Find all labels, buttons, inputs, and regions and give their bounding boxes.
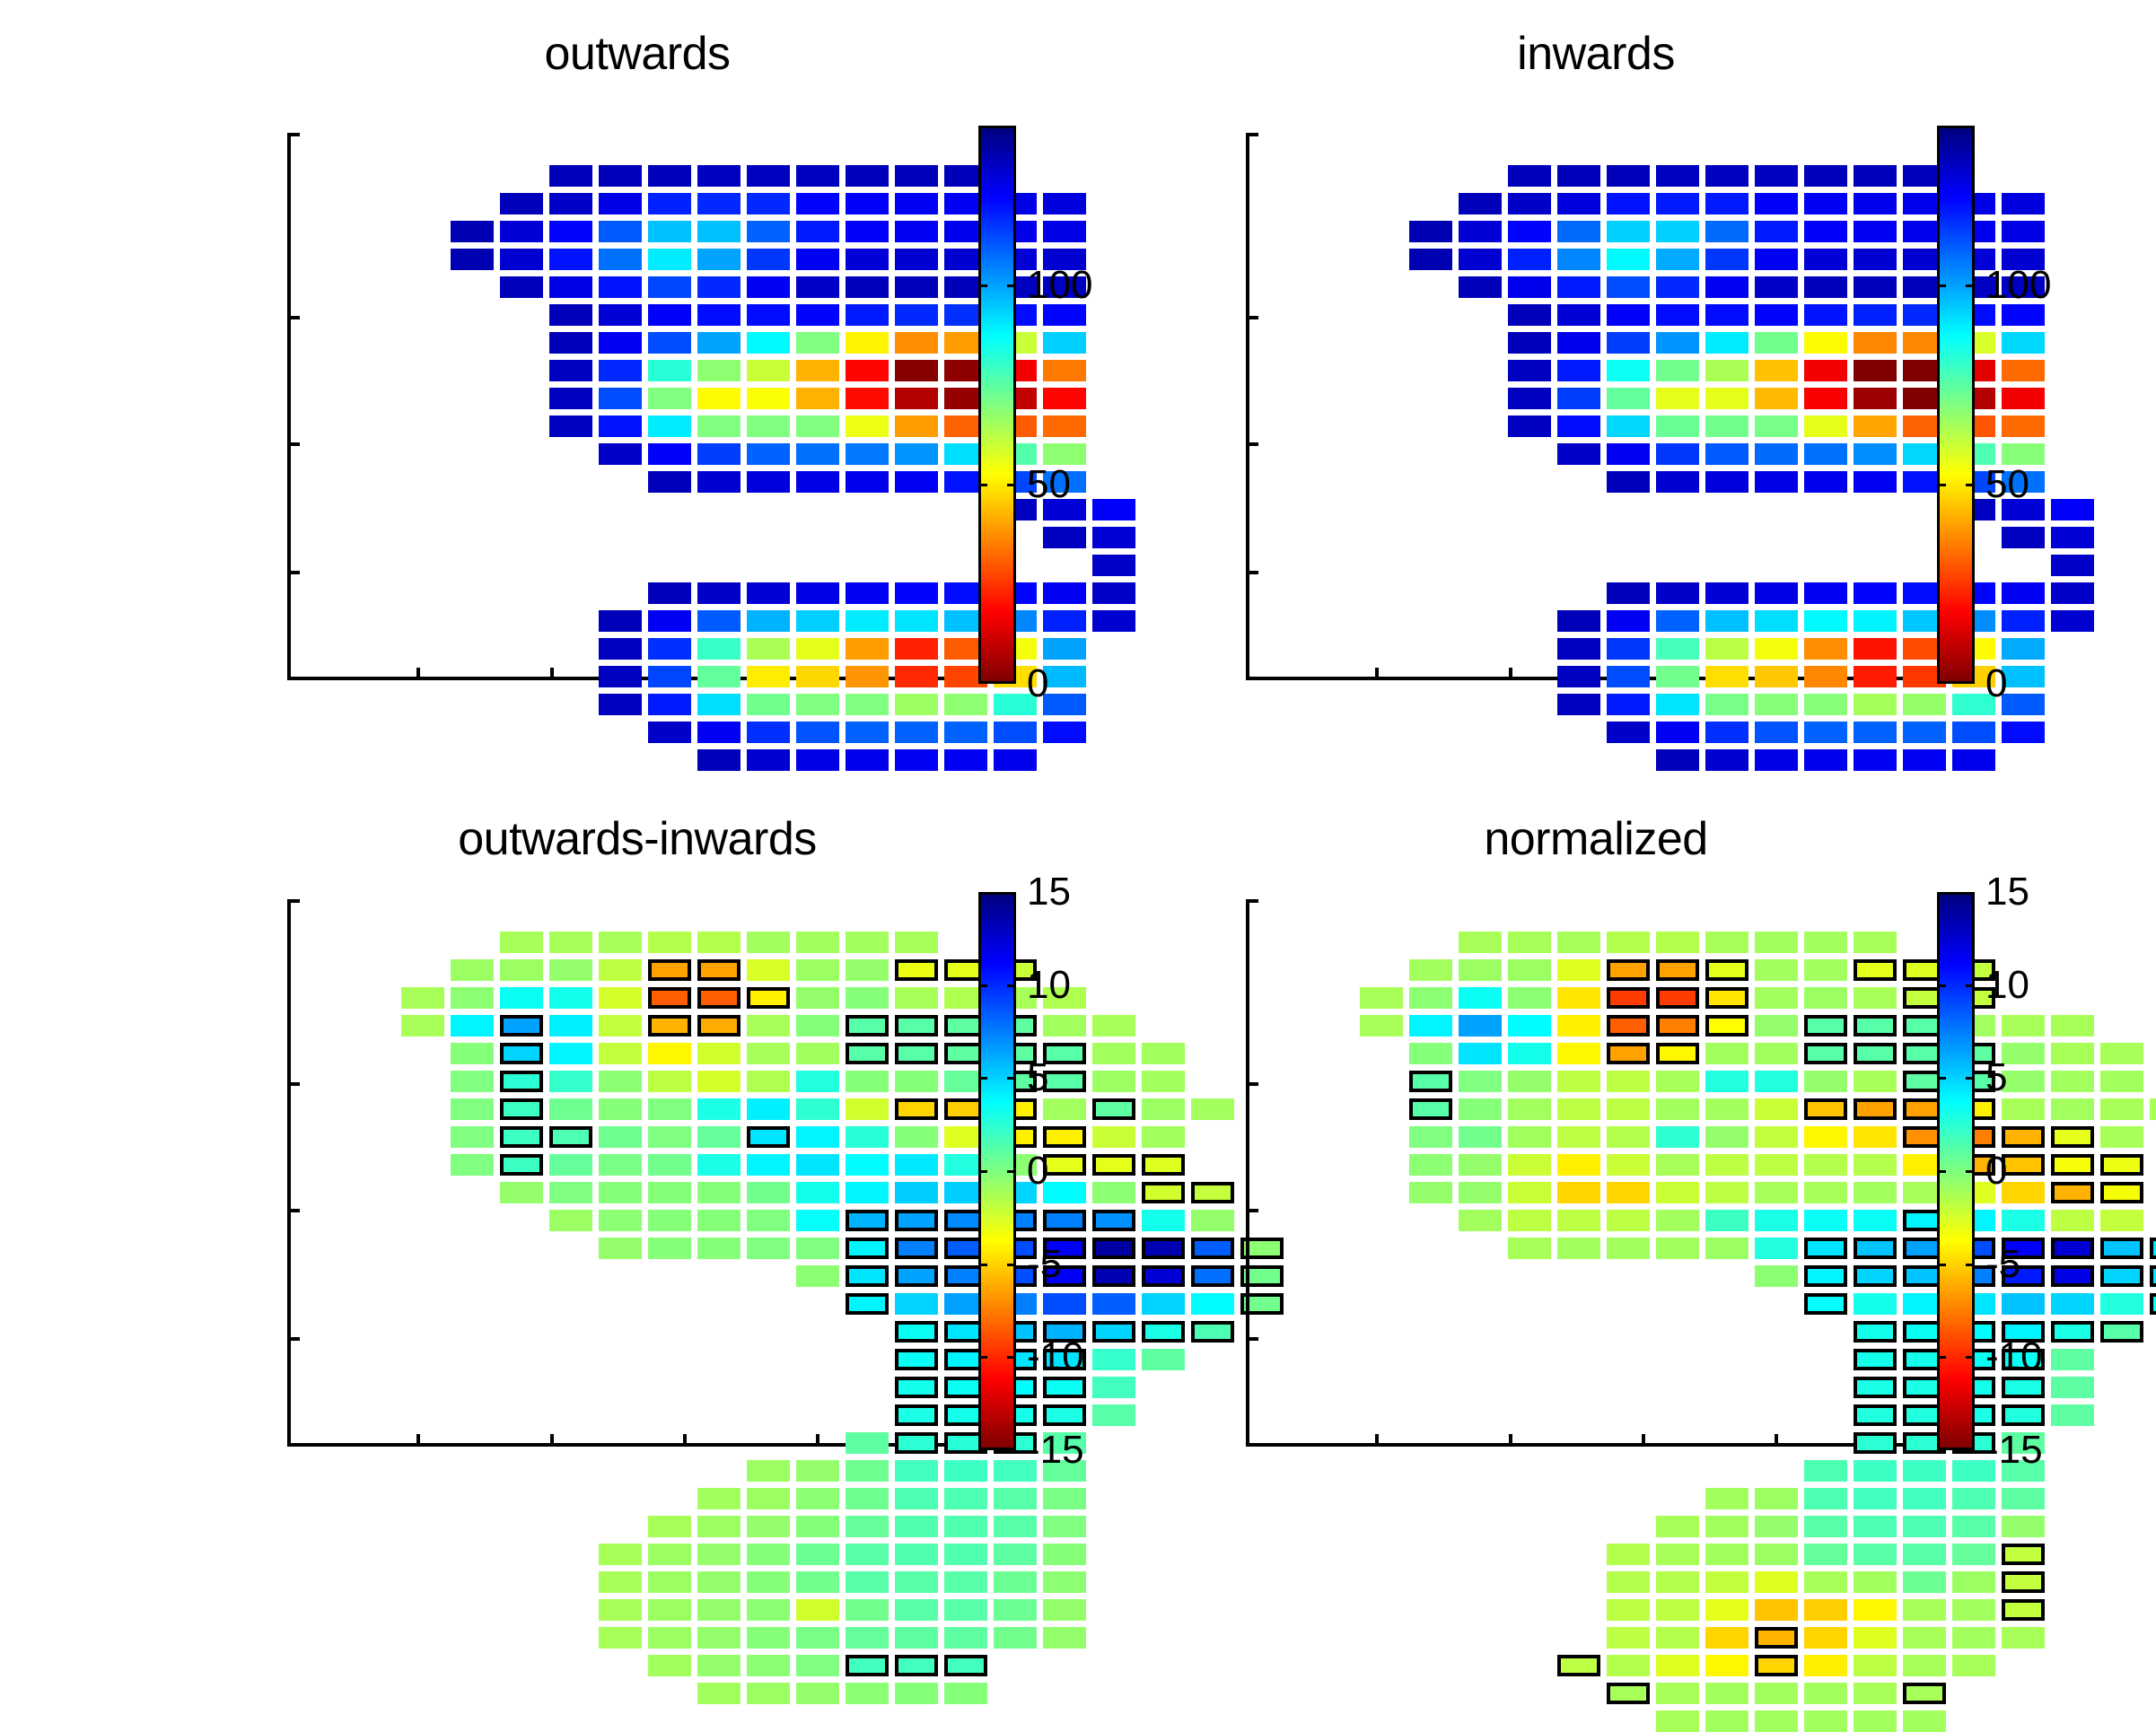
heatmap-cell — [1656, 1571, 1699, 1593]
heatmap-cell — [1656, 1154, 1699, 1176]
heatmap-cell — [2002, 1571, 2045, 1593]
heatmap-cell — [2051, 1349, 2094, 1370]
heatmap-cell — [1656, 1182, 1699, 1203]
heatmap-cell — [1557, 959, 1600, 981]
heatmap-cell — [1459, 932, 1502, 953]
heatmap-cell — [1804, 932, 1847, 953]
heatmap-cell — [1755, 1238, 1798, 1259]
heatmap-cell — [1755, 1683, 1798, 1704]
colorbar-tick-right-2 — [1966, 1264, 1975, 1266]
heatmap-cell — [747, 1683, 790, 1704]
colorbar-tick-1 — [1937, 1356, 1946, 1359]
heatmap-cell — [796, 1655, 839, 1676]
heatmap-cell — [1508, 1238, 1551, 1259]
heatmap-cell — [1508, 987, 1551, 1009]
heatmap-cell — [1804, 1516, 1847, 1537]
heatmap-cell — [2100, 1126, 2143, 1148]
heatmap-cell — [1804, 1627, 1847, 1649]
heatmap-cell — [2051, 1154, 2094, 1176]
heatmap-cell — [1656, 1015, 1699, 1037]
heatmap-cell — [1557, 1238, 1600, 1259]
heatmap-cell — [1459, 959, 1502, 981]
heatmap-cell — [2051, 1182, 2094, 1203]
heatmap-cell — [1705, 1071, 1748, 1092]
heatmap-cell — [1705, 932, 1748, 953]
colorbar-tick-label: -5 — [1985, 1245, 2020, 1284]
heatmap-cell — [1854, 1154, 1897, 1176]
heatmap-cell — [1804, 1126, 1847, 1148]
heatmap-cell — [1508, 1210, 1551, 1231]
colorbar-tick-2 — [1937, 1264, 1946, 1266]
heatmap-cell — [1607, 1182, 1650, 1203]
heatmap-cell — [1854, 959, 1897, 981]
heatmap-cell — [1508, 1182, 1551, 1203]
panel-title-normalized: normalized — [1246, 812, 1946, 866]
colorbar-tick-label: 15 — [1985, 872, 2029, 912]
heatmap-cell — [1804, 1265, 1847, 1287]
heatmap-cell — [2051, 1098, 2094, 1120]
heatmap-cell — [1903, 1683, 1946, 1704]
heatmap-cell — [1854, 1432, 1897, 1454]
heatmap-cell — [697, 1627, 741, 1649]
heatmap-cell — [648, 1627, 691, 1649]
colorbar-tick-label: -15 — [1985, 1430, 2043, 1470]
heatmap-cell — [1903, 1655, 1946, 1676]
heatmap-cell — [1409, 1015, 1452, 1037]
heatmap-cell — [1607, 1627, 1650, 1649]
heatmap-cell — [1557, 987, 1600, 1009]
heatmap-cell — [2100, 1182, 2143, 1203]
heatmap-cell — [1656, 1710, 1699, 1732]
heatmap-cell — [1854, 1321, 1897, 1343]
heatmap-cell — [1854, 1710, 1897, 1732]
colorbar-tick-3 — [1937, 1170, 1946, 1173]
heatmap-cell — [1607, 932, 1650, 953]
heatmap-cell — [1459, 1154, 1502, 1176]
heatmap-cell — [1409, 1154, 1452, 1176]
heatmap-cell — [1804, 1015, 1847, 1037]
heatmap-cell — [1508, 1071, 1551, 1092]
heatmap-cell — [1804, 1488, 1847, 1509]
heatmap-cell — [1854, 1126, 1897, 1148]
heatmap-cell — [796, 1627, 839, 1649]
colorbar-tick-right-5 — [1966, 984, 1975, 987]
heatmap-cell — [2150, 1098, 2156, 1120]
heatmap-cell — [1903, 1599, 1946, 1621]
heatmap-cell — [1705, 1043, 1748, 1064]
heatmap-cell — [1755, 1071, 1798, 1092]
heatmap-cell — [1656, 1043, 1699, 1064]
heatmap-cell — [1705, 1516, 1748, 1537]
heatmap-cell — [1459, 1043, 1502, 1064]
heatmap-cell — [1508, 1154, 1551, 1176]
heatmap-cell — [994, 1627, 1037, 1649]
heatmap-normalized — [1246, 899, 1946, 1447]
heatmap-cell — [1804, 959, 1847, 981]
heatmap-cell — [1656, 959, 1699, 981]
heatmap-cell — [1656, 1627, 1699, 1649]
heatmap-cell — [1607, 1071, 1650, 1092]
heatmap-cell — [1607, 1015, 1650, 1037]
heatmap-cell — [1705, 1238, 1748, 1259]
heatmap-cell — [1607, 959, 1650, 981]
heatmap-cell — [1607, 1238, 1650, 1259]
heatmap-cell — [2002, 1377, 2045, 1398]
heatmap-cell — [895, 1627, 938, 1649]
heatmap-cell — [1952, 1627, 1995, 1649]
heatmap-cell — [1854, 1182, 1897, 1203]
heatmap-cell — [1656, 1655, 1699, 1676]
heatmap-cell — [1705, 1571, 1748, 1593]
heatmap-cell — [1903, 1460, 1946, 1482]
heatmap-cell — [846, 1683, 889, 1704]
heatmap-cell — [1409, 959, 1452, 981]
heatmap-cell — [1607, 1599, 1650, 1621]
heatmap-cell — [1409, 987, 1452, 1009]
heatmap-cell — [1043, 1627, 1086, 1649]
heatmap-cell — [1903, 1488, 1946, 1509]
heatmap-cell — [1854, 1516, 1897, 1537]
heatmap-cell — [2002, 1488, 2045, 1509]
heatmap-cell — [1854, 1265, 1897, 1287]
heatmap-cell — [1804, 1599, 1847, 1621]
heatmap-cell — [1607, 987, 1650, 1009]
heatmap-cell — [1705, 1126, 1748, 1148]
heatmap-cell — [2100, 1043, 2143, 1064]
heatmap-cell — [944, 1655, 987, 1676]
heatmap-cell — [944, 1683, 987, 1704]
heatmap-cell — [1705, 1210, 1748, 1231]
heatmap-cell — [1459, 1126, 1502, 1148]
heatmap-cell — [1607, 1043, 1650, 1064]
heatmap-cell — [1854, 1349, 1897, 1370]
heatmap-cell — [1854, 1655, 1897, 1676]
heatmap-cell — [895, 1655, 938, 1676]
heatmap-cell — [895, 1683, 938, 1704]
heatmap-cell — [2002, 1015, 2045, 1037]
heatmap-cell — [1656, 1683, 1699, 1704]
heatmap-cell — [2150, 1238, 2156, 1259]
heatmap-cell — [747, 1627, 790, 1649]
heatmap-cell — [1854, 1599, 1897, 1621]
colorbar-tick-right-1 — [1966, 1356, 1975, 1359]
heatmap-cell — [1508, 959, 1551, 981]
heatmap-cell — [1854, 1544, 1897, 1565]
heatmap-cell — [1607, 1655, 1650, 1676]
heatmap-cell — [1952, 1571, 1995, 1593]
heatmap-cell — [1755, 1154, 1798, 1176]
heatmap-cell — [1804, 1210, 1847, 1231]
panel-normalized: normalized-15-10-5051015 — [0, 0, 2156, 1616]
heatmap-cell — [1409, 1071, 1452, 1092]
heatmap-cell — [2100, 1293, 2143, 1315]
heatmap-cell — [1903, 1544, 1946, 1565]
heatmap-cell — [1804, 1043, 1847, 1064]
heatmap-cell — [1755, 1488, 1798, 1509]
heatmap-cell — [1360, 987, 1403, 1009]
heatmap-cell — [1459, 1071, 1502, 1092]
heatmap-cell — [1607, 1098, 1650, 1120]
heatmap-cell — [2002, 1599, 2045, 1621]
heatmap-cell — [1952, 1599, 1995, 1621]
heatmap-cell — [1656, 1516, 1699, 1537]
heatmap-cell — [1705, 987, 1748, 1009]
colorbar-tick-label: -10 — [1985, 1337, 2043, 1377]
heatmap-cell — [1755, 1015, 1798, 1037]
heatmap-cell — [1804, 1182, 1847, 1203]
heatmap-cell — [1854, 1683, 1897, 1704]
heatmap-cell — [1557, 932, 1600, 953]
heatmap-cell — [1607, 1210, 1650, 1231]
heatmap-cell — [1755, 959, 1798, 981]
heatmap-cell — [2051, 1126, 2094, 1148]
heatmap-cell — [697, 1683, 741, 1704]
heatmap-cell — [2002, 1516, 2045, 1537]
figure-canvas: outwards050100inwards050100outwards-inwa… — [0, 0, 2156, 1616]
heatmap-cell — [1804, 1571, 1847, 1593]
heatmap-cell — [1459, 987, 1502, 1009]
heatmap-cell — [1557, 1098, 1600, 1120]
heatmap-cell — [1705, 1154, 1748, 1176]
heatmap-cell — [1409, 1126, 1452, 1148]
heatmap-cell — [747, 1655, 790, 1676]
heatmap-cell — [1804, 1710, 1847, 1732]
heatmap-cell — [697, 1655, 741, 1676]
heatmap-cell — [1607, 1544, 1650, 1565]
heatmap-cell — [1607, 1683, 1650, 1704]
heatmap-cell — [1804, 1293, 1847, 1315]
heatmap-cell — [1952, 1655, 1995, 1676]
heatmap-cell — [1952, 1488, 1995, 1509]
heatmap-cell — [1854, 1210, 1897, 1231]
heatmap-cell — [1854, 1238, 1897, 1259]
heatmap-cell — [2002, 1182, 2045, 1203]
heatmap-cell — [1607, 1126, 1650, 1148]
heatmap-cell — [1557, 1043, 1600, 1064]
heatmap-cell — [2002, 1126, 2045, 1148]
heatmap-cell — [1508, 932, 1551, 953]
heatmap-cell — [1854, 1043, 1897, 1064]
heatmap-cell — [1755, 1265, 1798, 1287]
heatmap-cell — [1508, 1098, 1551, 1120]
heatmap-cell — [648, 1655, 691, 1676]
heatmap-cell — [846, 1655, 889, 1676]
heatmap-cell — [1903, 1627, 1946, 1649]
axes-normalized — [1246, 899, 1946, 1447]
heatmap-cell — [1854, 1488, 1897, 1509]
heatmap-cell — [2002, 1154, 2045, 1176]
heatmap-cell — [1755, 1098, 1798, 1120]
heatmap-cell — [1557, 1126, 1600, 1148]
heatmap-cell — [1557, 1210, 1600, 1231]
heatmap-cell — [1557, 1655, 1600, 1676]
heatmap-cell — [2002, 1043, 2045, 1064]
heatmap-cell — [1854, 1404, 1897, 1426]
heatmap-cell — [1656, 1126, 1699, 1148]
heatmap-cell — [1705, 1683, 1748, 1704]
heatmap-cell — [2002, 1098, 2045, 1120]
heatmap-cell — [2051, 1377, 2094, 1398]
heatmap-cell — [2100, 1154, 2143, 1176]
heatmap-cell — [2051, 1321, 2094, 1343]
colorbar-tick-label: 0 — [1985, 1151, 2007, 1191]
heatmap-cell — [1755, 1544, 1798, 1565]
heatmap-cell — [2002, 1404, 2045, 1426]
heatmap-cell — [796, 1683, 839, 1704]
heatmap-cell — [1607, 1571, 1650, 1593]
heatmap-cell — [1854, 1571, 1897, 1593]
heatmap-cell — [2100, 1238, 2143, 1259]
heatmap-cell — [1755, 1599, 1798, 1621]
heatmap-cell — [1854, 987, 1897, 1009]
heatmap-cell — [1755, 1571, 1798, 1593]
heatmap-cell — [1705, 1098, 1748, 1120]
heatmap-cell — [1360, 1015, 1403, 1037]
heatmap-cell — [1755, 1182, 1798, 1203]
heatmap-cell — [1804, 1544, 1847, 1565]
heatmap-cell — [1804, 1098, 1847, 1120]
heatmap-cell — [2002, 1071, 2045, 1092]
heatmap-cell — [1557, 1154, 1600, 1176]
heatmap-cell — [2002, 1627, 2045, 1649]
heatmap-cell — [2100, 1321, 2143, 1343]
heatmap-cell — [2051, 1071, 2094, 1092]
heatmap-cell — [1459, 1182, 1502, 1203]
heatmap-cell — [1656, 1210, 1699, 1231]
heatmap-cell — [1557, 1182, 1600, 1203]
heatmap-cell — [2051, 1210, 2094, 1231]
heatmap-cell — [1705, 959, 1748, 981]
heatmap-cell — [1409, 1098, 1452, 1120]
heatmap-cell — [1409, 1043, 1452, 1064]
heatmap-cell — [1508, 1043, 1551, 1064]
heatmap-cell — [1903, 1571, 1946, 1593]
heatmap-cell — [1854, 1098, 1897, 1120]
heatmap-cell — [1656, 987, 1699, 1009]
heatmap-cell — [1854, 1293, 1897, 1315]
heatmap-cell — [1755, 1516, 1798, 1537]
colorbar-tick-label: 10 — [1985, 966, 2029, 1005]
heatmap-cell — [1804, 1238, 1847, 1259]
heatmap-cell — [1607, 1154, 1650, 1176]
heatmap-cell — [2100, 1265, 2143, 1287]
heatmap-cell — [2051, 1265, 2094, 1287]
heatmap-cell — [1409, 1182, 1452, 1203]
heatmap-cell — [599, 1627, 642, 1649]
heatmap-cell — [1705, 1710, 1748, 1732]
heatmap-cell — [1804, 1655, 1847, 1676]
heatmap-cell — [1952, 1544, 1995, 1565]
heatmap-cell — [1804, 1071, 1847, 1092]
heatmap-cell — [1755, 1210, 1798, 1231]
heatmap-cell — [1854, 932, 1897, 953]
heatmap-cell — [1903, 1710, 1946, 1732]
heatmap-cell — [846, 1627, 889, 1649]
heatmap-cell — [1705, 1488, 1748, 1509]
heatmap-cell — [2051, 1293, 2094, 1315]
heatmap-cell — [2100, 1098, 2143, 1120]
heatmap-cell — [1656, 932, 1699, 953]
heatmap-cell — [2002, 1293, 2045, 1315]
heatmap-cell — [1459, 1210, 1502, 1231]
heatmap-cell — [1952, 1516, 1995, 1537]
heatmap-cell — [1705, 1599, 1748, 1621]
heatmap-cell — [944, 1627, 987, 1649]
heatmap-cell — [1755, 987, 1798, 1009]
heatmap-cell — [1755, 1627, 1798, 1649]
heatmap-cell — [2051, 1015, 2094, 1037]
colorbar-tick-5 — [1937, 984, 1946, 987]
heatmap-cell — [2002, 1210, 2045, 1231]
heatmap-cell — [1557, 1015, 1600, 1037]
heatmap-cell — [2150, 1265, 2156, 1287]
heatmap-cell — [1755, 1655, 1798, 1676]
heatmap-cell — [1459, 1098, 1502, 1120]
heatmap-cell — [2051, 1043, 2094, 1064]
heatmap-cell — [1755, 1710, 1798, 1732]
heatmap-cell — [1656, 1599, 1699, 1621]
heatmap-cell — [1854, 1071, 1897, 1092]
heatmap-cell — [2100, 1071, 2143, 1092]
heatmap-cell — [1459, 1015, 1502, 1037]
heatmap-cell — [1755, 932, 1798, 953]
heatmap-cell — [1755, 1126, 1798, 1148]
colorbar-tick-right-4 — [1966, 1077, 1975, 1080]
heatmap-cell — [2002, 1544, 2045, 1565]
heatmap-cell — [1804, 1460, 1847, 1482]
heatmap-cell — [1804, 987, 1847, 1009]
heatmap-cell — [2051, 1404, 2094, 1426]
heatmap-cell — [1705, 1182, 1748, 1203]
heatmap-cell — [1656, 1071, 1699, 1092]
heatmap-cell — [1854, 1377, 1897, 1398]
heatmap-cell — [1557, 1071, 1600, 1092]
heatmap-cell — [1854, 1627, 1897, 1649]
colorbar-tick-4 — [1937, 1077, 1946, 1080]
heatmap-cell — [1705, 1544, 1748, 1565]
heatmap-cell — [2100, 1210, 2143, 1231]
heatmap-cell — [2051, 1238, 2094, 1259]
heatmap-cell — [1854, 1015, 1897, 1037]
colorbar-tick-label: 5 — [1985, 1058, 2007, 1098]
heatmap-cell — [1854, 1460, 1897, 1482]
heatmap-cell — [1508, 1015, 1551, 1037]
heatmap-cell — [1755, 1043, 1798, 1064]
heatmap-cell — [1705, 1655, 1748, 1676]
heatmap-cell — [1656, 1238, 1699, 1259]
heatmap-cell — [2150, 1293, 2156, 1315]
heatmap-cell — [1903, 1516, 1946, 1537]
heatmap-cell — [1656, 1544, 1699, 1565]
heatmap-cell — [1656, 1098, 1699, 1120]
heatmap-cell — [1705, 1627, 1748, 1649]
heatmap-cell — [1804, 1154, 1847, 1176]
heatmap-cell — [1705, 1015, 1748, 1037]
colorbar-tick-right-3 — [1966, 1170, 1975, 1173]
heatmap-cell — [1508, 1126, 1551, 1148]
heatmap-cell — [1804, 1683, 1847, 1704]
